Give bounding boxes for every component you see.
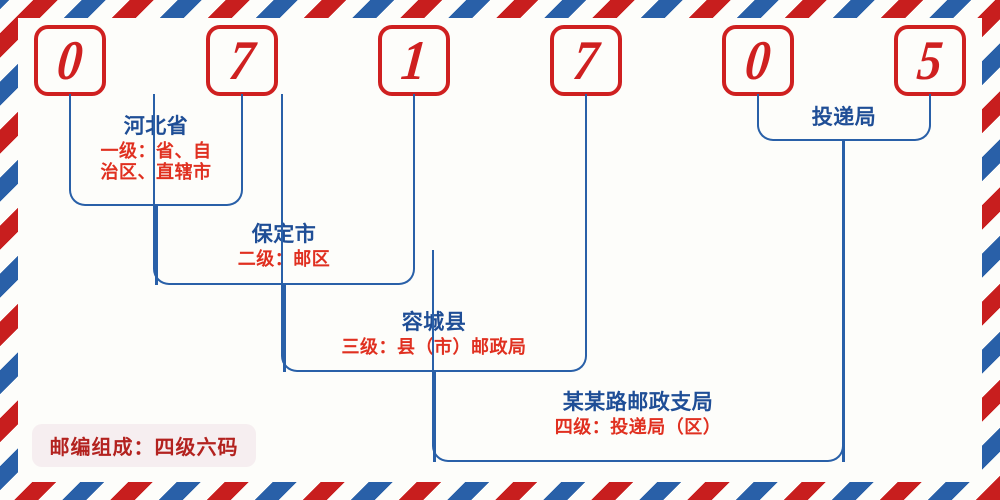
digit-glyph-2: 7 <box>227 33 258 89</box>
digit-glyph-3: 1 <box>399 33 430 89</box>
digit-box-2[interactable]: 7 <box>206 25 278 96</box>
place-name-delivery-office: 投递局 <box>757 105 931 130</box>
digit-glyph-1: 0 <box>55 33 86 89</box>
digit-glyph-6: 5 <box>915 33 946 89</box>
digit-box-5[interactable]: 0 <box>722 25 794 96</box>
label-level-4: 某某路邮政支局 四级：投递局（区） <box>432 390 844 438</box>
postcode-infographic: 0 7 1 7 0 5 河北省 一级：省、自 治区、直辖市 保定市 二级：邮区 … <box>0 0 1000 500</box>
legend-label: 邮编组成：四级六码 <box>50 431 239 460</box>
place-name-level-4: 某某路邮政支局 <box>432 390 844 415</box>
legend-pill: 邮编组成：四级六码 <box>32 424 256 467</box>
level-desc-level-4: 四级：投递局（区） <box>432 417 844 438</box>
digit-glyph-4: 7 <box>571 33 602 89</box>
digit-box-4[interactable]: 7 <box>550 25 622 96</box>
label-delivery-office: 投递局 <box>757 105 931 130</box>
digit-box-3[interactable]: 1 <box>378 25 450 96</box>
digit-box-1[interactable]: 0 <box>34 25 106 96</box>
digit-glyph-5: 0 <box>743 33 774 89</box>
digit-box-6[interactable]: 5 <box>894 25 966 96</box>
